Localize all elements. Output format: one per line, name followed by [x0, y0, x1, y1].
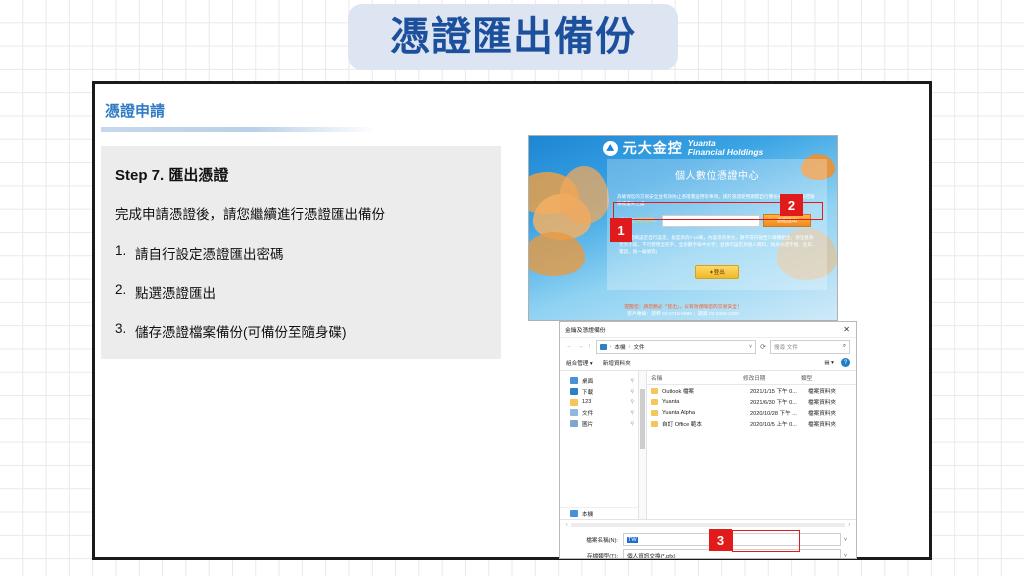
file-type: 檔案資料夾: [808, 420, 848, 428]
dialog-fields: 檔案名稱(N): TW ˅ 存檔類型(T): 個人資訊交換(*.pfx) ˅: [560, 529, 856, 559]
footer-contact-text: 客戶專線：證券 02-2718-5886 ；期貨 02-2325-1009: [529, 311, 837, 318]
pin-icon[interactable]: ⚲: [630, 378, 634, 384]
computer-icon: [570, 510, 578, 517]
filetype-label: 存檔類型(T):: [566, 552, 623, 560]
filename-value: TW: [627, 537, 638, 543]
step-lead-text: 完成申請憑證後，請您繼續進行憑證匯出備份: [115, 203, 485, 223]
search-icon: ⌕: [843, 343, 846, 350]
list-item-label: 點選憑證匯出: [135, 282, 485, 302]
sidebar-item-label: 本機: [582, 510, 593, 518]
breadcrumb-separator-2: ›: [629, 344, 631, 350]
sidebar-scrollbar[interactable]: [639, 371, 647, 519]
scroll-left-arrow-icon[interactable]: ‹: [566, 522, 568, 528]
list-item-number: 1.: [115, 243, 135, 263]
new-folder-button[interactable]: 新增資料夾: [603, 359, 631, 367]
pin-icon[interactable]: ⚲: [630, 389, 634, 395]
breadcrumb-item-0[interactable]: 本機: [614, 343, 625, 351]
folder-icon: [651, 388, 658, 394]
logo-english-name: Yuanta Financial Holdings: [688, 139, 764, 156]
file-type: 檔案資料夾: [808, 398, 848, 406]
dialog-titlebar: 金鑰及憑證備份 ✕: [560, 322, 856, 338]
file-type: 檔案資料夾: [808, 387, 848, 395]
pictures-icon: [570, 420, 578, 427]
close-icon[interactable]: ✕: [843, 325, 850, 334]
file-list: 名稱 修改日期 類型 Outlook 檔案 2021/1/15 下午 0... …: [647, 371, 856, 519]
dialog-navigation-bar: ← → ↑ › 本機 › 文件 ˅ ⟳ 搜尋 文件 ⌕: [560, 338, 856, 355]
sidebar-item-desktop[interactable]: 桌面 ⚲: [560, 375, 638, 386]
save-button-highlight: [732, 530, 800, 552]
list-item-number: 3.: [115, 321, 135, 341]
scrollbar-thumb[interactable]: [640, 389, 645, 449]
logout-button[interactable]: ✦登出: [695, 265, 739, 279]
refresh-icon[interactable]: ⟳: [760, 343, 766, 351]
save-as-dialog-screenshot: 金鑰及憑證備份 ✕ ← → ↑ › 本機 › 文件 ˅ ⟳ 搜尋 文件 ⌕: [559, 321, 857, 559]
pin-icon[interactable]: ⚲: [630, 410, 634, 416]
step-title: Step 7. 匯出憑證: [115, 164, 485, 185]
footer-warning-text: 提醒您：請您務必「登出」，以有效保障您的交易安全！: [529, 304, 837, 311]
panel-title: 個人數位憑證中心: [607, 167, 827, 182]
desktop-icon: [570, 377, 578, 384]
left-column: 憑證申請 Step 7. 匯出憑證 完成申請憑證後，請您繼續進行憑證匯出備份 1…: [99, 90, 509, 359]
sidebar-item-123[interactable]: 123 ⚲: [560, 397, 638, 407]
filetype-row: 存檔類型(T): 個人資訊交換(*.pfx) ˅: [566, 549, 850, 559]
table-row[interactable]: Yuanta 2021/6/30 下午 0... 檔案資料夾: [647, 396, 856, 407]
section-heading: 憑證申請: [99, 90, 509, 123]
column-header-type[interactable]: 類型: [801, 374, 841, 382]
pin-icon[interactable]: ⚲: [630, 399, 634, 405]
filename-label: 檔案名稱(N):: [566, 536, 623, 544]
file-date: 2020/10/28 下午 ...: [750, 409, 808, 417]
chevron-down-icon[interactable]: ˅: [749, 344, 755, 350]
list-item-number: 2.: [115, 282, 135, 302]
folder-icon: [651, 421, 658, 427]
sidebar-item-this-pc[interactable]: 本機: [560, 507, 638, 519]
search-input[interactable]: 搜尋 文件 ⌕: [770, 340, 850, 354]
up-arrow-icon[interactable]: ↑: [588, 343, 592, 350]
petal-decoration: [528, 232, 585, 276]
yuanta-logo-icon: [603, 141, 618, 156]
this-pc-row[interactable]: 本機: [560, 508, 638, 519]
sidebar-item-documents[interactable]: 文件 ⚲: [560, 407, 638, 418]
toolbar-right-group: ▤ ▾ ?: [824, 358, 850, 367]
marker-badge-3: 3: [709, 529, 732, 551]
forward-arrow-icon[interactable]: →: [577, 343, 584, 350]
table-row[interactable]: Yuanta Alpha 2020/10/28 下午 ... 檔案資料夾: [647, 407, 856, 418]
sidebar-item-pictures[interactable]: 圖片 ⚲: [560, 418, 638, 429]
marker-badge-2: 2: [780, 194, 803, 216]
file-date: 2021/1/15 下午 0...: [750, 387, 808, 395]
search-placeholder: 搜尋 文件: [774, 343, 843, 351]
slide-canvas: 憑證匯出備份 憑證申請 Step 7. 匯出憑證 完成申請憑證後，請您繼續進行憑…: [0, 0, 1024, 576]
page-title: 憑證匯出備份: [390, 17, 636, 57]
list-item: 2. 點選憑證匯出: [115, 282, 485, 302]
folder-icon: [651, 410, 658, 416]
yuanta-logo: 元大金控 Yuanta Financial Holdings: [529, 138, 837, 158]
file-type: 檔案資料夾: [808, 409, 848, 417]
sidebar-item-label: 圖片: [582, 420, 593, 428]
logo-chinese-name: 元大金控: [623, 138, 683, 158]
filename-row: 檔案名稱(N): TW ˅: [566, 533, 850, 546]
sidebar-item-label: 下載: [582, 388, 593, 396]
breadcrumb-separator: ›: [610, 344, 612, 350]
dialog-sidebar: 桌面 ⚲ 下載 ⚲ 123 ⚲ 文件: [560, 371, 639, 519]
panel-note-bottom: (憑證密碼設定自行設定，長度須為7-16碼，內容須為英文、數字或符號至少兩種組合…: [619, 235, 817, 256]
scrollbar-track[interactable]: [571, 523, 846, 527]
column-header-date[interactable]: 修改日期: [743, 374, 801, 382]
web-footer: 提醒您：請您務必「登出」，以有效保障您的交易安全！ 客戶專線：證券 02-271…: [529, 299, 837, 318]
petal-decoration: [559, 166, 609, 224]
breadcrumb-item-1[interactable]: 文件: [633, 343, 644, 351]
dialog-body: 桌面 ⚲ 下載 ⚲ 123 ⚲ 文件: [560, 371, 856, 519]
filetype-value: 個人資訊交換(*.pfx): [627, 552, 675, 560]
folder-icon: [600, 344, 607, 350]
column-header-name[interactable]: 名稱: [651, 374, 743, 382]
organize-button[interactable]: 組合管理 ▾: [566, 359, 593, 367]
table-row[interactable]: 自訂 Office 範本 2020/10/5 上午 0... 檔案資料夾: [647, 418, 856, 429]
folder-icon: [651, 399, 658, 405]
list-item: 3. 儲存憑證檔案備份(可備份至隨身碟): [115, 321, 485, 341]
view-options-button[interactable]: ▤ ▾: [824, 360, 834, 366]
logo-en-line-2: Financial Holdings: [688, 147, 764, 157]
instruction-box: Step 7. 匯出憑證 完成申請憑證後，請您繼續進行憑證匯出備份 1. 請自行…: [101, 146, 501, 359]
scroll-right-arrow-icon[interactable]: ›: [848, 522, 850, 528]
file-name: Yuanta: [662, 399, 750, 405]
documents-icon: [570, 409, 578, 416]
list-item: 1. 請自行設定憑證匯出密碼: [115, 243, 485, 263]
help-icon[interactable]: ?: [841, 358, 850, 367]
file-name: 自訂 Office 範本: [662, 420, 750, 428]
certificate-panel: 個人數位憑證中心 為確保您的交易安全並有效防止憑證遭盜用等事項，請於憑證使用期間…: [607, 159, 827, 290]
file-name: Outlook 檔案: [662, 387, 750, 395]
marker-badge-1: 1: [610, 218, 632, 242]
pin-icon[interactable]: ⚲: [630, 421, 634, 427]
dialog-title: 金鑰及憑證備份: [565, 325, 606, 334]
file-name: Yuanta Alpha: [662, 410, 750, 416]
table-row[interactable]: Outlook 檔案 2021/1/15 下午 0... 檔案資料夾: [647, 385, 856, 396]
sidebar-item-downloads[interactable]: 下載 ⚲: [560, 386, 638, 397]
heading-divider: [101, 127, 376, 132]
sidebar-item-label: 123: [582, 399, 591, 405]
folder-icon: [570, 399, 578, 406]
sidebar-item-label: 文件: [582, 409, 593, 417]
filename-dropdown-icon[interactable]: ˅: [841, 537, 850, 543]
file-list-header: 名稱 修改日期 類型: [647, 371, 856, 385]
horizontal-scrollbar[interactable]: ‹ ›: [560, 519, 856, 529]
file-date: 2021/6/30 下午 0...: [750, 398, 808, 406]
breadcrumb[interactable]: › 本機 › 文件 ˅: [596, 340, 757, 354]
back-arrow-icon[interactable]: ←: [566, 343, 573, 350]
title-banner: 憑證匯出備份: [348, 4, 678, 70]
file-date: 2020/10/5 上午 0...: [750, 420, 808, 428]
list-item-label: 請自行設定憑證匯出密碼: [135, 243, 485, 263]
sidebar-item-label: 桌面: [582, 377, 593, 385]
filetype-dropdown-icon[interactable]: ˅: [841, 553, 850, 559]
content-card: 憑證申請 Step 7. 匯出憑證 完成申請憑證後，請您繼續進行憑證匯出備份 1…: [92, 81, 932, 560]
download-icon: [570, 388, 578, 395]
list-item-label: 儲存憑證檔案備份(可備份至隨身碟): [135, 321, 485, 341]
dialog-toolbar: 組合管理 ▾ 新增資料夾 ▤ ▾ ?: [560, 355, 856, 371]
certificate-center-screenshot: 元大金控 Yuanta Financial Holdings 個人數位憑證中心 …: [528, 135, 838, 321]
